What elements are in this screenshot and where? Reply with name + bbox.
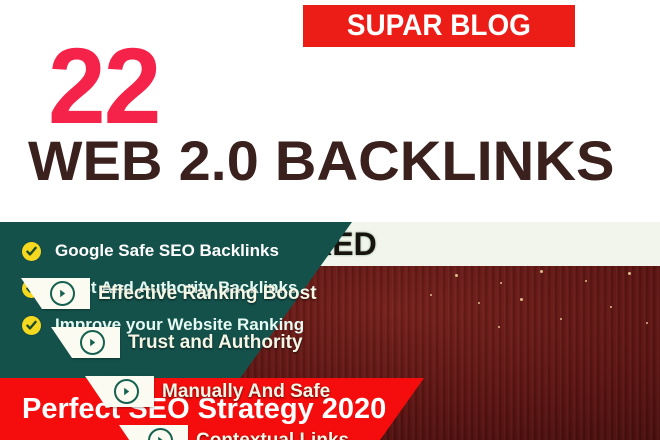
list-item: Contextual Links [140,425,188,440]
brand-badge-label: SUPAR BLOG [347,11,531,41]
backlink-count: 22 [48,32,159,140]
list-item-label: Manually And Safe [162,382,330,401]
check-circle-icon [22,316,41,335]
list-item: Effective Ranking Boost [42,278,90,309]
list-item: Trust and Authority [72,327,120,358]
page-title: WEB 2.0 BACKLINKS [28,133,658,189]
poster-body-section: BACKLINKS TIERED Google Safe SEO Backlin… [0,222,660,440]
arrow-circle-right-icon [50,281,75,306]
promo-poster: SUPAR BLOG 22 WEB 2.0 BACKLINKS [0,0,660,440]
poster-header-section: SUPAR BLOG 22 WEB 2.0 BACKLINKS [0,0,660,222]
check-circle-icon [22,242,41,261]
brand-badge: SUPAR BLOG [303,5,575,47]
list-item-label: Effective Ranking Boost [98,284,317,303]
arrow-circle-right-icon [80,330,105,355]
list-item: Google Safe SEO Backlinks [22,242,352,261]
list-item-label: Trust and Authority [128,333,303,352]
arrow-circle-right-icon [148,428,173,440]
list-item: Manually And Safe [106,376,154,407]
list-item-label: Google Safe SEO Backlinks [55,242,279,261]
list-item-label: Contextual Links [196,431,349,440]
arrow-circle-right-icon [114,379,139,404]
